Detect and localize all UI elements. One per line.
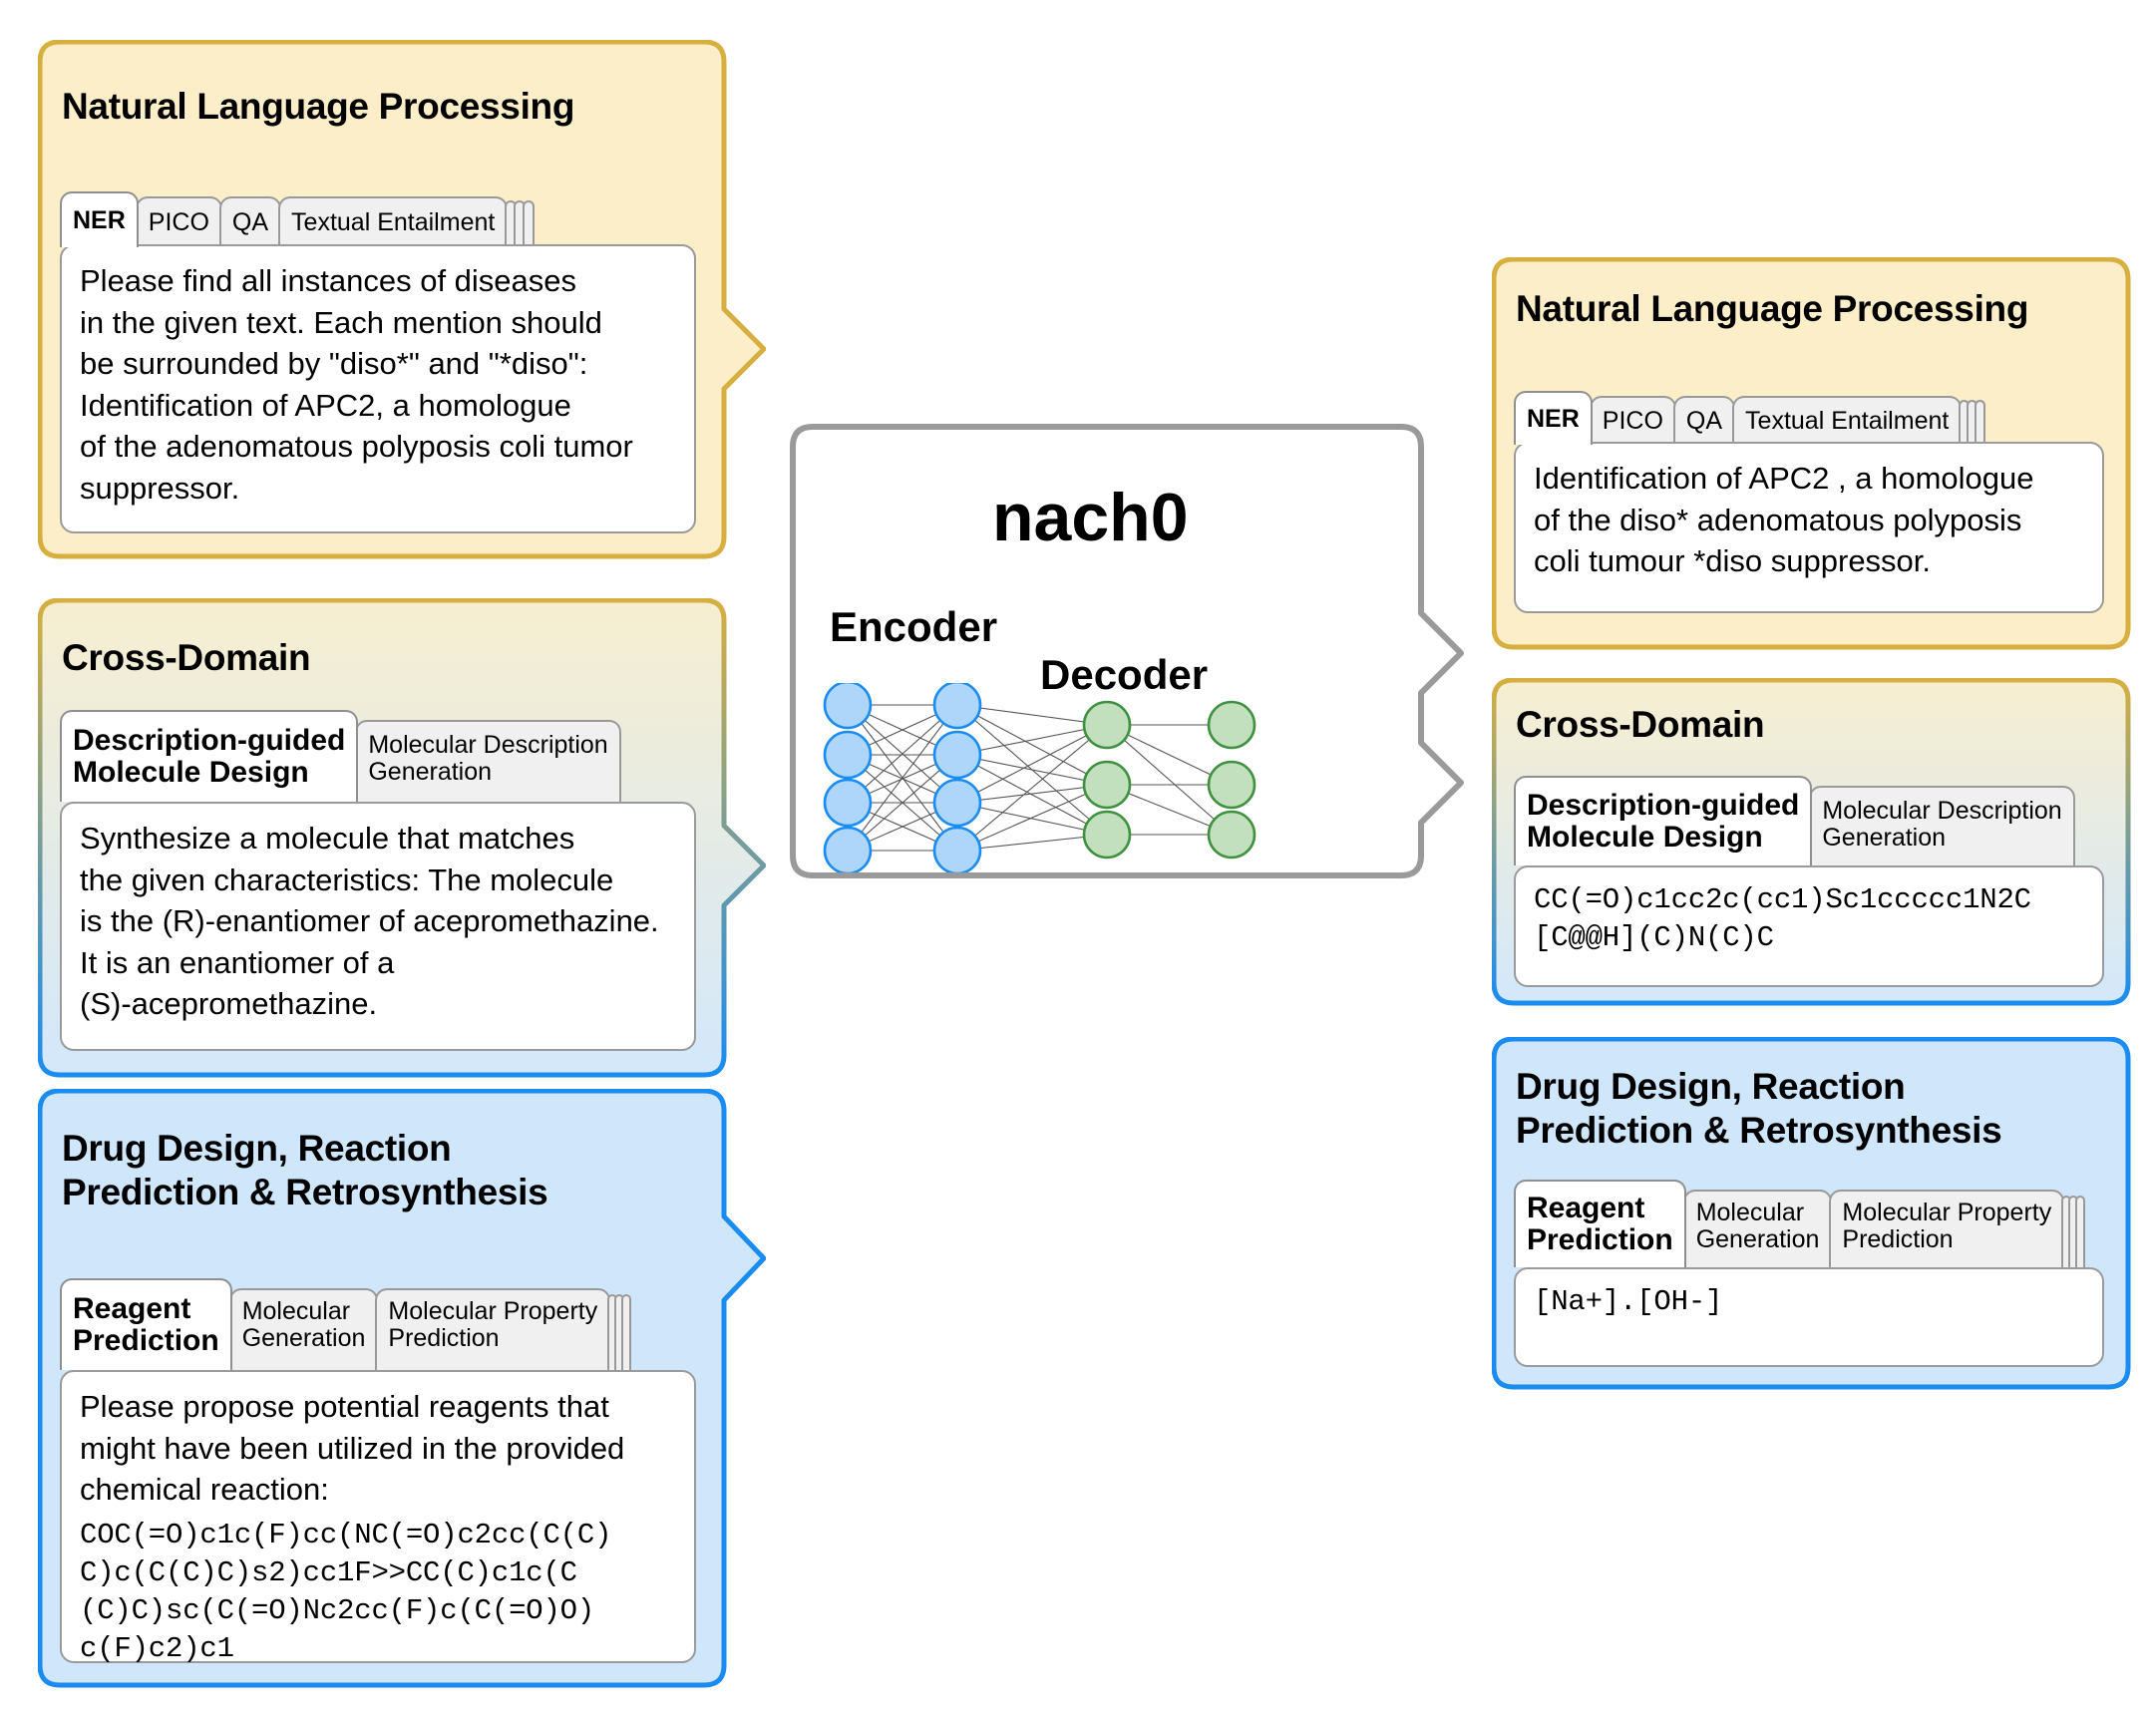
tab-overflow-3[interactable] <box>2075 1196 2085 1267</box>
input-panel-drug-design: Drug Design, Reaction Prediction & Retro… <box>38 1089 726 1687</box>
tab-molecular-property-prediction[interactable]: Molecular Property Prediction <box>375 1288 610 1370</box>
tab-overflow-3[interactable] <box>621 1294 631 1370</box>
tab-description-guided-molecule-design[interactable]: Description-guided Molecule Design <box>60 710 358 802</box>
card-body-text: Please propose potential reagents that m… <box>62 1372 694 1515</box>
model-box: nach0 Encoder Decoder <box>788 424 1446 882</box>
card-body-text: Please find all instances of diseases in… <box>62 246 694 522</box>
panel-title: Drug Design, Reaction Prediction & Retro… <box>1516 1065 2001 1152</box>
tab-ner[interactable]: NER <box>1514 391 1593 445</box>
tab-molecular-property-prediction[interactable]: Molecular Property Prediction <box>1829 1190 2064 1267</box>
panel-card: Please find all instances of diseases in… <box>60 244 696 533</box>
tab-pico[interactable]: PICO <box>1590 396 1676 445</box>
tab-pico[interactable]: PICO <box>136 196 222 247</box>
tab-qa[interactable]: QA <box>219 196 281 247</box>
tab-strip: Reagent Prediction Molecular Generation … <box>60 1278 631 1370</box>
panel-card: [Na+].[OH-] <box>1514 1267 2104 1367</box>
card-body-mono: CC(=O)c1cc2c(cc1)Sc1ccccc1N2C [C@@H](C)N… <box>1516 867 2102 972</box>
panel-card: Please propose potential reagents that m… <box>60 1370 696 1663</box>
tab-reagent-prediction[interactable]: Reagent Prediction <box>60 1278 232 1370</box>
panel-title: Cross-Domain <box>62 636 310 680</box>
tab-molecular-description-generation[interactable]: Molecular Description Generation <box>1809 786 2074 865</box>
tab-strip: Description-guided Molecule Design Molec… <box>1514 776 2075 865</box>
encoder-label: Encoder <box>830 603 997 651</box>
tab-molecular-generation[interactable]: Molecular Generation <box>229 1288 379 1370</box>
panel-title: Natural Language Processing <box>1516 287 2028 331</box>
tab-reagent-prediction[interactable]: Reagent Prediction <box>1514 1180 1686 1267</box>
tab-ner[interactable]: NER <box>60 191 139 247</box>
panel-card: Synthesize a molecule that matches the g… <box>60 802 696 1051</box>
output-panel-nlp: Natural Language Processing NER PICO QA … <box>1492 257 2130 651</box>
tab-textual-entailment[interactable]: Textual Entailment <box>1732 396 1962 445</box>
panel-title: Natural Language Processing <box>62 85 574 129</box>
neural-network-diagram <box>813 683 1411 872</box>
tab-description-guided-molecule-design[interactable]: Description-guided Molecule Design <box>1514 776 1812 865</box>
panel-card: Identification of APC2 , a homologue of … <box>1514 442 2104 613</box>
tab-overflow-3[interactable] <box>523 200 535 247</box>
tab-molecular-generation[interactable]: Molecular Generation <box>1683 1190 1833 1267</box>
panel-title: Drug Design, Reaction Prediction & Retro… <box>62 1127 547 1213</box>
tab-molecular-description-generation[interactable]: Molecular Description Generation <box>355 720 620 802</box>
panel-card: CC(=O)c1cc2c(cc1)Sc1ccccc1N2C [C@@H](C)N… <box>1514 865 2104 987</box>
tab-strip: NER PICO QA Textual Entailment <box>60 191 535 247</box>
tab-strip: Reagent Prediction Molecular Generation … <box>1514 1180 2085 1267</box>
input-panel-nlp: Natural Language Processing NER PICO QA … <box>38 40 726 558</box>
tab-qa[interactable]: QA <box>1673 396 1735 445</box>
card-body-mono: COC(=O)c1c(F)cc(NC(=O)c2cc(C(C) C)c(C(C)… <box>62 1515 694 1679</box>
card-body-text: Synthesize a molecule that matches the g… <box>62 804 694 1039</box>
model-name: nach0 <box>992 479 1189 556</box>
input-panel-cross-domain: Cross-Domain Description-guided Molecule… <box>38 598 726 1077</box>
output-panel-drug-design: Drug Design, Reaction Prediction & Retro… <box>1492 1037 2130 1391</box>
card-body-mono: [Na+].[OH-] <box>1516 1269 2102 1335</box>
output-panel-cross-domain: Cross-Domain Description-guided Molecule… <box>1492 678 2130 1007</box>
encoder-edges <box>848 705 957 851</box>
tab-overflow-3[interactable] <box>1975 400 1985 445</box>
card-body-text: Identification of APC2 , a homologue of … <box>1516 444 2102 596</box>
tab-textual-entailment[interactable]: Textual Entailment <box>278 196 508 247</box>
tab-strip: Description-guided Molecule Design Molec… <box>60 710 621 802</box>
tab-strip: NER PICO QA Textual Entailment <box>1514 391 1985 445</box>
panel-title: Cross-Domain <box>1516 703 1764 747</box>
